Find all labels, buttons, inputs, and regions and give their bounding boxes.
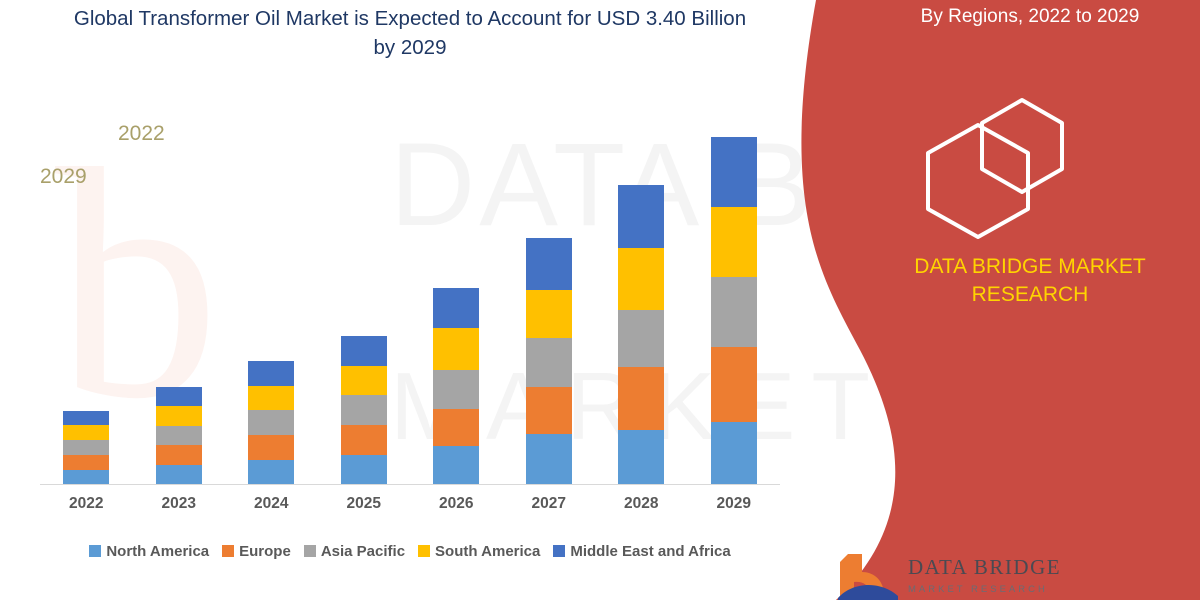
bar-segment[interactable] <box>341 455 387 485</box>
legend-label: North America <box>106 543 209 560</box>
bar-segment[interactable] <box>526 434 572 485</box>
logo-mark-icon <box>838 552 900 600</box>
x-axis-labels: 20222023202420252026202720282029 <box>40 495 780 523</box>
bar-segment[interactable] <box>341 336 387 366</box>
company-logo: DATA BRIDGE MARKET RESEARCH <box>838 552 1078 600</box>
x-axis-label-2026: 2026 <box>416 495 496 513</box>
x-axis-label-2025: 2025 <box>324 495 404 513</box>
bar-segment[interactable] <box>711 207 757 277</box>
bar-segment[interactable] <box>156 406 202 426</box>
bar-segment[interactable] <box>433 409 479 446</box>
legend-item[interactable]: Middle East and Africa <box>553 543 730 560</box>
bar-segment[interactable] <box>526 290 572 338</box>
bar-segment[interactable] <box>526 387 572 434</box>
hexagon-group <box>920 95 1120 240</box>
bar-segment[interactable] <box>618 367 664 430</box>
legend-label: South America <box>435 543 540 560</box>
legend-swatch-icon <box>89 545 101 557</box>
bar-segment[interactable] <box>63 455 109 470</box>
legend-swatch-icon <box>418 545 430 557</box>
bar-segment[interactable] <box>618 185 664 248</box>
x-axis-label-2029: 2029 <box>694 495 774 513</box>
bar-segment[interactable] <box>156 426 202 445</box>
bar-segment[interactable] <box>248 410 294 435</box>
bar-segment[interactable] <box>711 277 757 347</box>
legend-label: Middle East and Africa <box>570 543 730 560</box>
legend-item[interactable]: North America <box>89 543 209 560</box>
brand-line-2: RESEARCH <box>880 281 1180 309</box>
logo-text: DATA BRIDGE <box>908 555 1061 580</box>
legend-label: Europe <box>239 543 291 560</box>
x-axis-label-2023: 2023 <box>139 495 219 513</box>
bar-segment[interactable] <box>248 435 294 460</box>
infographic-canvas: b DATA BRIDGE MARKET RESEARCH Global Tra… <box>0 0 1200 600</box>
legend-label: Asia Pacific <box>321 543 405 560</box>
x-axis-label-2024: 2024 <box>231 495 311 513</box>
page-title: Global Transformer Oil Market is Expecte… <box>70 4 750 62</box>
hexagon-big-2029 <box>928 125 1028 237</box>
bar-2023[interactable] <box>156 387 202 485</box>
bar-segment[interactable] <box>341 366 387 395</box>
bar-2027[interactable] <box>526 238 572 485</box>
legend-swatch-icon <box>553 545 565 557</box>
bar-segment[interactable] <box>711 422 757 485</box>
bar-segment[interactable] <box>341 425 387 455</box>
bar-2028[interactable] <box>618 185 664 485</box>
brand-line-1: DATA BRIDGE MARKET <box>880 253 1180 281</box>
bar-segment[interactable] <box>526 238 572 290</box>
bar-segment[interactable] <box>618 310 664 367</box>
bar-segment[interactable] <box>618 430 664 485</box>
bar-segment[interactable] <box>433 370 479 409</box>
legend-swatch-icon <box>222 545 234 557</box>
bar-2029[interactable] <box>711 137 757 485</box>
x-axis-label-2028: 2028 <box>601 495 681 513</box>
bar-segment[interactable] <box>63 411 109 425</box>
legend-item[interactable]: Europe <box>222 543 291 560</box>
x-axis-line <box>40 484 780 485</box>
legend-item[interactable]: Asia Pacific <box>304 543 405 560</box>
bar-segment[interactable] <box>248 361 294 386</box>
bar-segment[interactable] <box>526 338 572 387</box>
bar-segment[interactable] <box>341 395 387 425</box>
brand-name: DATA BRIDGE MARKET RESEARCH <box>880 253 1180 308</box>
bar-segment[interactable] <box>711 137 757 207</box>
hexagon-small-2022 <box>982 100 1062 192</box>
panel-heading: By Regions, 2022 to 2029 <box>865 6 1195 28</box>
x-axis-label-2022: 2022 <box>46 495 126 513</box>
chart-legend: North AmericaEuropeAsia PacificSouth Ame… <box>40 538 780 564</box>
bar-2025[interactable] <box>341 336 387 485</box>
bar-2024[interactable] <box>248 361 294 485</box>
bar-segment[interactable] <box>433 328 479 370</box>
logo-subtext: MARKET RESEARCH <box>908 584 1048 595</box>
hexagon-label-2022: 2022 <box>118 122 165 146</box>
bar-segment[interactable] <box>63 470 109 485</box>
bar-segment[interactable] <box>156 445 202 465</box>
hexagon-label-2029: 2029 <box>40 165 87 189</box>
bar-segment[interactable] <box>433 446 479 485</box>
bar-segment[interactable] <box>248 460 294 485</box>
legend-swatch-icon <box>304 545 316 557</box>
bar-segment[interactable] <box>63 425 109 440</box>
bar-segment[interactable] <box>618 248 664 310</box>
bar-segment[interactable] <box>156 465 202 485</box>
bar-segment[interactable] <box>156 387 202 406</box>
bar-2022[interactable] <box>63 411 109 485</box>
bar-segment[interactable] <box>63 440 109 455</box>
legend-item[interactable]: South America <box>418 543 540 560</box>
hexagons-svg <box>920 95 1120 240</box>
bar-segment[interactable] <box>711 347 757 422</box>
bar-segment[interactable] <box>248 386 294 410</box>
bar-segment[interactable] <box>433 288 479 328</box>
bar-2026[interactable] <box>433 288 479 485</box>
stacked-bar-chart <box>40 90 780 485</box>
x-axis-label-2027: 2027 <box>509 495 589 513</box>
